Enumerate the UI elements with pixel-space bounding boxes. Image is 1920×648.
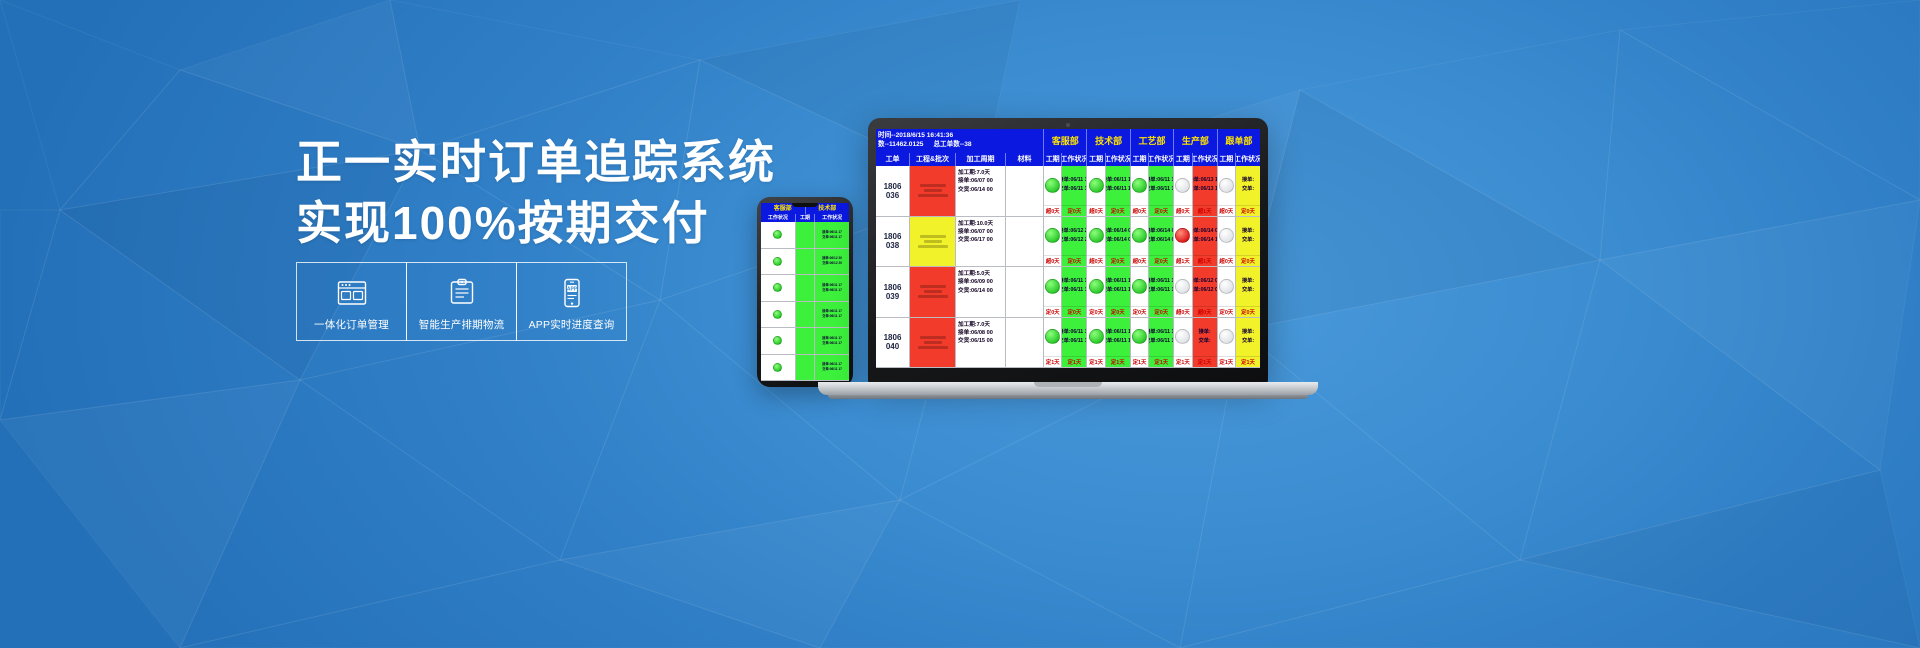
dept-header-production: 生产部	[1174, 129, 1217, 153]
col-header-duration: 工期	[1044, 153, 1062, 166]
work-time-entry: 接单:	[1242, 328, 1254, 337]
work-time-entry: 接单:06/11 17	[1149, 176, 1174, 185]
phone-cell-duration	[796, 302, 816, 328]
status-light-green-icon	[1045, 279, 1060, 294]
work-foot-label: 定0天	[1106, 205, 1130, 216]
overdue-label: 定1天	[1131, 356, 1148, 367]
work-foot-label: 定0天	[1149, 255, 1173, 266]
phone-subcol-header: 工作状况	[761, 214, 796, 222]
phone-cell-duration	[796, 275, 816, 301]
cell-processing-cycle: 加工期:7.0天接单:06/07 00交货:06/14 00	[956, 166, 1006, 216]
cell-duration-light: 超0天	[1218, 166, 1236, 216]
work-time-entry: 交单:	[1199, 337, 1211, 346]
work-foot-label: 定0天	[1149, 205, 1173, 216]
cell-work-status: 接单:06/14 00交单:06/14 00定0天	[1149, 217, 1174, 267]
work-time-entry: 交单:06/14 00	[1149, 236, 1174, 245]
work-time-entry: 交单:06/14 14	[1193, 236, 1218, 245]
overdue-label: 定0天	[1087, 306, 1104, 317]
order-management-icon	[337, 276, 367, 310]
phone-cell-duration	[796, 222, 816, 248]
cell-work-status: 接单:06/11 17交单:06/11 17定0天	[1106, 267, 1131, 317]
work-foot-label: 定1天	[1062, 356, 1086, 367]
col-header-material: 材料	[1006, 153, 1044, 166]
overdue-label: 超0天	[1044, 255, 1061, 266]
overdue-label: 超0天	[1174, 205, 1191, 216]
cell-duration-light: 定0天	[1087, 267, 1105, 317]
status-light-grey-icon	[1219, 228, 1234, 243]
work-time-entry: 接单:	[1242, 227, 1254, 236]
cell-duration-light: 定1天	[1174, 318, 1192, 368]
cell-work-status: 接单:06/11 17交单:06/11 17定1天	[1106, 318, 1131, 368]
work-time-entry: 交单:06/11 17	[1062, 286, 1087, 295]
cell-duration-light: 超0天	[1087, 166, 1105, 216]
work-foot-label: 定0天	[1062, 205, 1086, 216]
phone-cell-status-light	[761, 222, 796, 248]
work-time-entry: 交单:	[1242, 286, 1254, 295]
cell-project-batch	[910, 267, 956, 317]
cell-duration-light: 定1天	[1087, 318, 1105, 368]
col-header-status: 工作状况	[1236, 153, 1260, 166]
cell-material	[1006, 318, 1044, 368]
cell-material	[1006, 267, 1044, 317]
overdue-label: 定0天	[1044, 306, 1061, 317]
cell-project-batch	[910, 318, 956, 368]
overdue-label: 定0天	[1218, 306, 1235, 317]
mobile-app-icon: APP	[561, 276, 583, 310]
overdue-label: 超0天	[1218, 255, 1235, 266]
work-foot-label: 定0天	[1236, 306, 1260, 317]
overdue-label: 超0天	[1131, 205, 1148, 216]
phone-notch	[792, 203, 818, 207]
cell-work-status: 接单:06/12 20交单:06/12 20定0天	[1062, 217, 1087, 267]
work-time-entry: 交单:06/11 17	[1106, 185, 1131, 194]
work-time-entry: 接单:	[1199, 328, 1211, 337]
cell-work-status: 接单:06/11 17交单:06/11 17定0天	[1062, 267, 1087, 317]
col-header-status: 工作状况	[1062, 153, 1087, 166]
status-light-green-icon	[773, 230, 782, 239]
work-foot-label: 定0天	[1106, 306, 1130, 317]
cell-duration-light: 定1天	[1218, 318, 1236, 368]
overdue-label: 定1天	[1174, 356, 1191, 367]
dept-header-merchandising: 跟单部	[1218, 129, 1260, 153]
work-time-entry: 接单:06/12 09	[1193, 277, 1218, 286]
feature-label: 一体化订单管理	[314, 317, 389, 332]
work-time-entry: 交单:	[1242, 337, 1254, 346]
work-time-entry: 交单:06/13 10	[1193, 185, 1218, 194]
phone-cell-duration	[796, 328, 816, 354]
cell-work-status: 接单:交单:定0天	[1236, 217, 1260, 267]
overdue-label: 超0天	[1131, 255, 1148, 266]
status-light-green-icon	[1132, 329, 1147, 344]
status-light-green-icon	[773, 310, 782, 319]
work-time-entry: 接单:06/14 00	[1193, 227, 1218, 236]
cell-processing-cycle: 加工期:5.0天接单:06/09 00交货:06/14 00	[956, 267, 1006, 317]
work-time-entry: 接单:06/11 17	[1106, 277, 1131, 286]
overdue-label: 定1天	[1218, 356, 1235, 367]
laptop-mockup: 时间--2018/6/15 16:41:36 数--11462.0125 总工单…	[818, 118, 1318, 418]
status-light-green-icon	[1045, 178, 1060, 193]
meta-time: 时间--2018/6/15 16:41:36	[878, 133, 953, 140]
phone-subcol-header: 工期	[796, 214, 816, 222]
work-time-entry: 接单:06/14 00	[1106, 227, 1131, 236]
work-time-entry: 接单:06/14 00	[1149, 227, 1174, 236]
cell-work-status: 接单:06/11 17交单:06/11 17定0天	[1106, 166, 1131, 216]
dashboard-meta: 时间--2018/6/15 16:41:36 数--11462.0125 总工单…	[876, 129, 1044, 153]
col-header-cycle: 加工周期	[956, 153, 1006, 166]
work-foot-label: 定1天	[1236, 356, 1260, 367]
work-foot-label: 超1天	[1193, 205, 1217, 216]
cell-material	[1006, 166, 1044, 216]
work-time-entry: 交单:06/11 17	[1106, 337, 1131, 346]
feature-list: 一体化订单管理 智能生产排期物流 APP	[296, 262, 626, 341]
cell-duration-light: 定0天	[1044, 267, 1062, 317]
cell-duration-light: 定0天	[1218, 267, 1236, 317]
cell-processing-cycle: 加工期:7.0天接单:06/08 00交货:06/15 00	[956, 318, 1006, 368]
status-light-green-icon	[1132, 178, 1147, 193]
work-time-entry: 接单:06/12 20	[1062, 227, 1087, 236]
cell-work-status: 接单:交单:定0天	[1236, 166, 1260, 216]
status-light-grey-icon	[1175, 329, 1190, 344]
cell-duration-light: 超1天	[1174, 217, 1192, 267]
col-header-project: 工程&批次	[910, 153, 956, 166]
phone-cell-duration	[796, 355, 816, 381]
status-light-green-icon	[1045, 228, 1060, 243]
col-header-duration: 工期	[1218, 153, 1236, 166]
cell-work-status: 接单:06/14 00交单:06/14 14超1天	[1193, 217, 1218, 267]
work-time-entry: 交单:	[1242, 185, 1254, 194]
work-time-entry: 交单:	[1242, 236, 1254, 245]
col-header-duration: 工期	[1131, 153, 1149, 166]
table-row[interactable]: 1806040加工期:7.0天接单:06/08 00交货:06/15 00定1天…	[876, 318, 1260, 369]
cell-duration-light: 定1天	[1044, 318, 1062, 368]
overdue-label: 定0天	[1131, 306, 1148, 317]
col-header-status: 工作状况	[1149, 153, 1174, 166]
work-time-entry: 交单:06/11 17	[1149, 286, 1174, 295]
feature-item-production-schedule[interactable]: 智能生产排期物流	[406, 262, 517, 341]
clipboard-schedule-icon	[449, 276, 475, 310]
work-foot-label: 超1天	[1193, 255, 1217, 266]
work-foot-label: 定0天	[1236, 255, 1260, 266]
work-time-entry: 交单:06/14 00	[1106, 236, 1131, 245]
laptop-lid: 时间--2018/6/15 16:41:36 数--11462.0125 总工单…	[868, 118, 1268, 384]
cell-duration-light: 定1天	[1131, 318, 1149, 368]
status-light-green-icon	[1045, 329, 1060, 344]
status-light-green-icon	[1089, 228, 1104, 243]
cell-duration-light: 超0天	[1174, 166, 1192, 216]
cell-work-status: 接单:交单:定1天	[1236, 318, 1260, 368]
status-light-grey-icon	[1219, 329, 1234, 344]
status-light-green-icon	[1089, 329, 1104, 344]
overdue-label: 超0天	[1087, 255, 1104, 266]
table-row[interactable]: 1806039加工期:5.0天接单:06/09 00交货:06/14 00定0天…	[876, 267, 1260, 318]
dept-header-technical: 技术部	[1087, 129, 1130, 153]
phone-cell-status-light	[761, 249, 796, 275]
work-time-entry: 接单:06/11 17	[1106, 328, 1131, 337]
phone-cell-status-light	[761, 302, 796, 328]
overdue-label: 超0天	[1174, 306, 1191, 317]
cell-workorder: 1806040	[876, 318, 910, 368]
subheader-row: 工单 工程&批次 加工周期 材料 工期 工作状况 工期 工作状况 工期 工作状况…	[876, 153, 1260, 166]
work-time-entry: 交单:06/11 17	[1149, 337, 1174, 346]
cell-duration-light: 超0天	[1131, 217, 1149, 267]
work-foot-label: 定1天	[1193, 356, 1217, 367]
overdue-label: 超1天	[1174, 255, 1191, 266]
dept-header-process: 工艺部	[1131, 129, 1174, 153]
cell-duration-light: 超0天	[1174, 267, 1192, 317]
table-row[interactable]: 1806038加工期:10.0天接单:06/07 00交货:06/17 00超0…	[876, 217, 1260, 268]
status-light-green-icon	[1132, 279, 1147, 294]
meta-count: 数--11462.0125	[878, 142, 923, 149]
cell-processing-cycle: 加工期:10.0天接单:06/07 00交货:06/17 00	[956, 217, 1006, 267]
col-header-status: 工作状况	[1106, 153, 1131, 166]
status-light-grey-icon	[1175, 178, 1190, 193]
work-time-entry: 交单:06/11 17	[1062, 337, 1087, 346]
meta-total: 总工单数--38	[933, 142, 971, 149]
work-foot-label: 定0天	[1236, 205, 1260, 216]
cell-duration-light: 超0天	[1044, 166, 1062, 216]
work-time-entry: 交单:06/11 17	[1149, 185, 1174, 194]
status-light-green-icon	[1089, 279, 1104, 294]
cell-work-status: 接单:06/11 17交单:06/11 17定1天	[1149, 318, 1174, 368]
phone-cell-status-light	[761, 355, 796, 381]
overdue-label: 超0天	[1087, 205, 1104, 216]
work-time-entry: 接单:06/11 17	[1149, 328, 1174, 337]
feature-item-app-progress[interactable]: APP APP实时进度查询	[516, 262, 627, 341]
work-time-entry: 接单:06/13 10	[1193, 176, 1218, 185]
phone-cell-status-light	[761, 328, 796, 354]
col-header-status: 工作状况	[1193, 153, 1218, 166]
cell-project-batch	[910, 166, 956, 216]
cell-work-status: 接单:06/12 09交单:06/12 09超0天	[1193, 267, 1218, 317]
feature-label: 智能生产排期物流	[419, 317, 505, 332]
work-time-entry: 接单:06/11 17	[1106, 176, 1131, 185]
cell-workorder: 1806036	[876, 166, 910, 216]
work-foot-label: 超0天	[1193, 306, 1217, 317]
work-foot-label: 定0天	[1106, 255, 1130, 266]
overdue-label: 定1天	[1044, 356, 1061, 367]
work-foot-label: 定0天	[1062, 306, 1086, 317]
cell-duration-light: 超0天	[1218, 217, 1236, 267]
work-time-entry: 交单:06/11 17	[1106, 286, 1131, 295]
status-light-green-icon	[773, 336, 782, 345]
cell-work-status: 接单:06/11 17交单:06/11 17定0天	[1149, 267, 1174, 317]
status-light-grey-icon	[1219, 279, 1234, 294]
work-time-entry: 接单:06/11 17	[1062, 176, 1087, 185]
phone-cell-status-light	[761, 275, 796, 301]
cell-material	[1006, 217, 1044, 267]
work-time-entry: 接单:06/11 17	[1062, 277, 1087, 286]
cell-work-status: 接单:交单:定0天	[1236, 267, 1260, 317]
table-row[interactable]: 1806036加工期:7.0天接单:06/07 00交货:06/14 00超0天…	[876, 166, 1260, 217]
work-foot-label: 定0天	[1062, 255, 1086, 266]
work-time-entry: 接单:06/11 17	[1062, 328, 1087, 337]
status-light-green-icon	[773, 257, 782, 266]
dept-header-customer-service: 客服部	[1044, 129, 1087, 153]
feature-label: APP实时进度查询	[529, 317, 615, 332]
cell-work-status: 接单:06/11 17交单:06/11 17定1天	[1062, 318, 1087, 368]
dashboard-header: 时间--2018/6/15 16:41:36 数--11462.0125 总工单…	[876, 129, 1260, 166]
department-row: 时间--2018/6/15 16:41:36 数--11462.0125 总工单…	[876, 129, 1260, 153]
cell-work-status: 接单:06/13 10交单:06/13 10超1天	[1193, 166, 1218, 216]
status-light-green-icon	[773, 283, 782, 292]
phone-cell-duration	[796, 249, 816, 275]
order-tracking-dashboard: 时间--2018/6/15 16:41:36 数--11462.0125 总工单…	[876, 129, 1260, 368]
cell-duration-light: 超0天	[1131, 166, 1149, 216]
work-time-entry: 交单:06/12 20	[1062, 236, 1087, 245]
work-time-entry: 接单:06/11 17	[1149, 277, 1174, 286]
status-light-grey-icon	[1175, 279, 1190, 294]
svg-text:APP: APP	[566, 286, 577, 292]
work-time-entry: 接单:	[1242, 176, 1254, 185]
col-header-duration: 工期	[1174, 153, 1192, 166]
status-light-red-icon	[1175, 228, 1190, 243]
status-light-green-icon	[1132, 228, 1147, 243]
work-foot-label: 定1天	[1106, 356, 1130, 367]
status-light-green-icon	[1089, 178, 1104, 193]
work-foot-label: 定0天	[1149, 306, 1173, 317]
status-light-grey-icon	[1219, 178, 1234, 193]
overdue-label: 定1天	[1087, 356, 1104, 367]
col-header-duration: 工期	[1087, 153, 1105, 166]
cell-project-batch	[910, 217, 956, 267]
cell-work-status: 接单:06/11 17交单:06/11 17定0天	[1062, 166, 1087, 216]
cell-workorder: 1806039	[876, 267, 910, 317]
cell-duration-light: 超0天	[1087, 217, 1105, 267]
laptop-base-foot	[828, 395, 1308, 399]
laptop-screen[interactable]: 时间--2018/6/15 16:41:36 数--11462.0125 总工单…	[876, 129, 1260, 368]
cell-duration-light: 超0天	[1044, 217, 1062, 267]
col-header-workorder: 工单	[876, 153, 910, 166]
cell-work-status: 接单:交单:定1天	[1193, 318, 1218, 368]
work-foot-label: 定1天	[1149, 356, 1173, 367]
cell-work-status: 接单:06/14 00交单:06/14 00定0天	[1106, 217, 1131, 267]
overdue-label: 超0天	[1044, 205, 1061, 216]
feature-item-order-management[interactable]: 一体化订单管理	[296, 262, 407, 341]
laptop-base-notch	[1034, 382, 1102, 387]
cell-duration-light: 定0天	[1131, 267, 1149, 317]
status-light-green-icon	[773, 363, 782, 372]
cell-work-status: 接单:06/11 17交单:06/11 17定0天	[1149, 166, 1174, 216]
webcam-icon	[1066, 123, 1070, 127]
work-time-entry: 交单:06/12 09	[1193, 286, 1218, 295]
overdue-label: 超0天	[1218, 205, 1235, 216]
cell-workorder: 1806038	[876, 217, 910, 267]
work-time-entry: 接单:	[1242, 277, 1254, 286]
dashboard-body: 1806036加工期:7.0天接单:06/07 00交货:06/14 00超0天…	[876, 166, 1260, 368]
work-time-entry: 交单:06/11 17	[1062, 185, 1087, 194]
